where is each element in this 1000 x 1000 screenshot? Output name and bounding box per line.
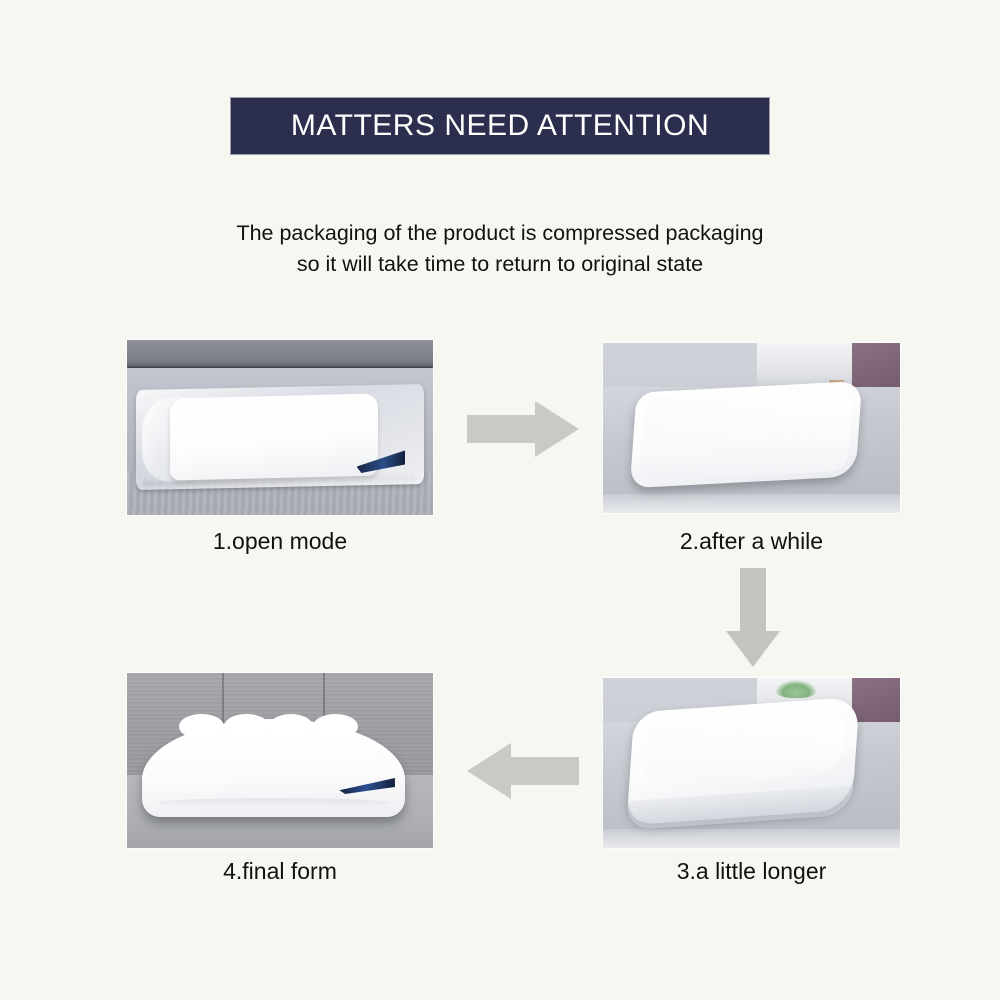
arrow-left-icon	[463, 740, 583, 802]
step-4-caption: 4.final form	[127, 858, 433, 885]
pillow-scallop	[313, 714, 358, 739]
pillow-crease	[158, 798, 390, 808]
step-1-caption: 1.open mode	[127, 528, 433, 555]
photo-scene-compressed-pillow	[127, 340, 433, 515]
arrow-down-icon	[722, 565, 784, 670]
bed-edge	[603, 829, 900, 848]
pillow-scallop	[269, 714, 314, 739]
photo-scene-lofting-pillow	[603, 678, 900, 848]
headboard	[127, 340, 433, 372]
plant-icon	[775, 680, 817, 699]
photo-scene-flat-pillow	[603, 343, 900, 513]
pillow-scallop	[224, 714, 269, 739]
bed-edge	[603, 494, 900, 513]
pillow-brand-label	[337, 777, 395, 794]
subtitle-line-2: so it will take time to return to origin…	[0, 249, 1000, 280]
step-1-photo	[127, 340, 433, 515]
step-2-caption: 2.after a while	[603, 528, 900, 555]
subtitle-line-1: The packaging of the product is compress…	[0, 218, 1000, 249]
lofting-pillow	[626, 697, 859, 826]
step-3-caption: 3.a little longer	[603, 858, 900, 885]
arrow-right-icon	[463, 398, 583, 460]
page-title-banner: MATTERS NEED ATTENTION	[230, 97, 770, 155]
pillow-scallop	[179, 714, 224, 739]
step-4-photo	[127, 673, 433, 848]
step-3-photo	[603, 678, 900, 848]
step-2-photo	[603, 343, 900, 513]
page-title: MATTERS NEED ATTENTION	[291, 109, 709, 143]
flat-pillow	[629, 381, 861, 488]
photo-scene-final-pillow	[127, 673, 433, 848]
subtitle-block: The packaging of the product is compress…	[0, 218, 1000, 280]
compressed-pillow	[170, 393, 378, 480]
